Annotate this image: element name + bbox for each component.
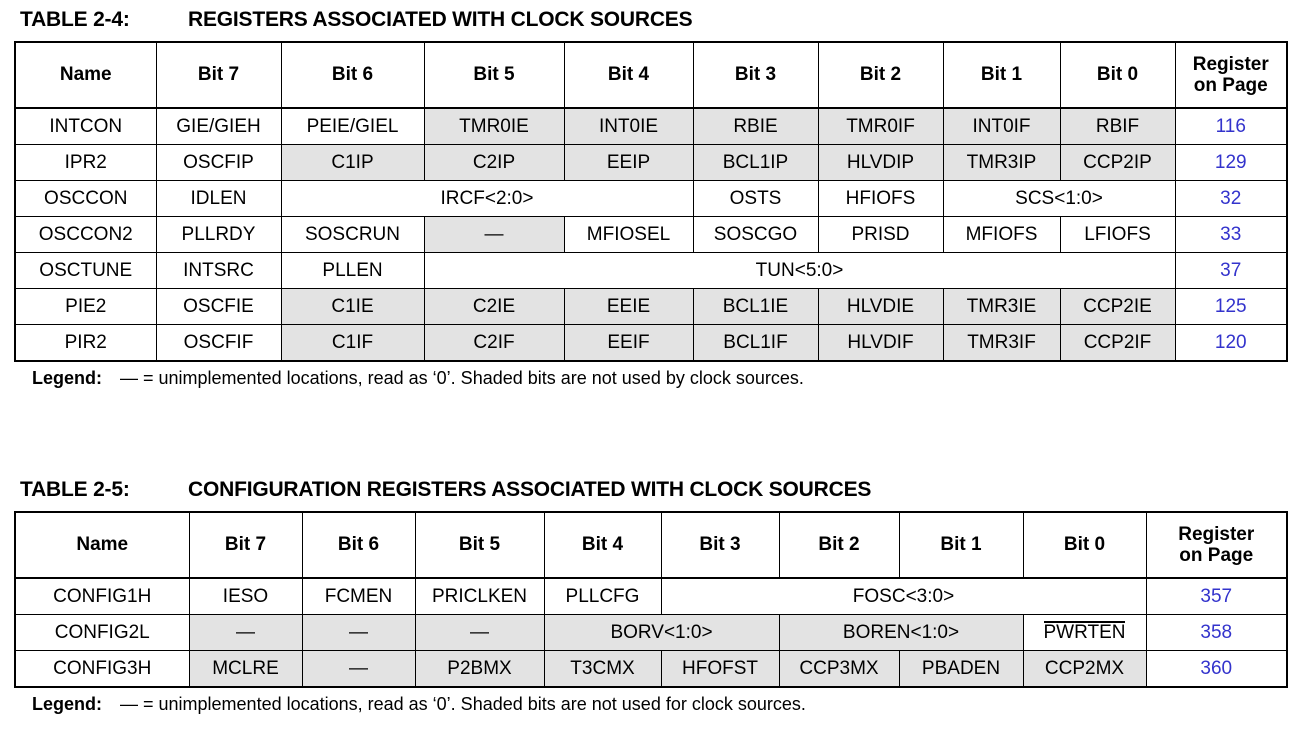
register-name-cell: CONFIG3H (15, 651, 189, 688)
legend-label: Legend: (32, 368, 120, 389)
table-row: IPR2OSCFIPC1IPC2IPEEIPBCL1IPHLVDIPTMR3IP… (15, 145, 1287, 181)
bit-field-cell: LFIOFS (1060, 217, 1175, 253)
bit-field-cell: BOREN<1:0> (779, 615, 1023, 651)
table-2-4-caption-title: REGISTERS ASSOCIATED WITH CLOCK SOURCES (188, 8, 1288, 32)
col-header-bit2: Bit 2 (779, 512, 899, 578)
table-2-4-header-row: Name Bit 7 Bit 6 Bit 5 Bit 4 Bit 3 Bit 2… (15, 42, 1287, 108)
register-page-link[interactable]: 358 (1146, 615, 1287, 651)
table-row: PIR2OSCFIFC1IFC2IFEEIFBCL1IFHLVDIFTMR3IF… (15, 325, 1287, 362)
col-header-bit6: Bit 6 (281, 42, 424, 108)
bit-field-cell: — (424, 217, 564, 253)
bit-field-cell: RBIF (1060, 108, 1175, 145)
table-row: INTCONGIE/GIEHPEIE/GIELTMR0IEINT0IERBIET… (15, 108, 1287, 145)
col-header-name: Name (15, 42, 156, 108)
bit-field-cell: MCLRE (189, 651, 302, 688)
register-page-link[interactable]: 357 (1146, 578, 1287, 615)
bit-field-cell: SCS<1:0> (943, 181, 1175, 217)
bit-field-cell: TMR3IF (943, 325, 1060, 362)
bit-field-cell: TMR3IE (943, 289, 1060, 325)
table-2-4-legend: Legend: — = unimplemented locations, rea… (32, 368, 1288, 389)
table-row: OSCTUNEINTSRCPLLENTUN<5:0>37 (15, 253, 1287, 289)
bit-field-cell: P2BMX (415, 651, 544, 688)
bit-field-cell: SOSCRUN (281, 217, 424, 253)
bit-field-cell: BORV<1:0> (544, 615, 779, 651)
bit-field-cell: TMR3IP (943, 145, 1060, 181)
col-header-bit3: Bit 3 (693, 42, 818, 108)
bit-field-cell: GIE/GIEH (156, 108, 281, 145)
col-header-name: Name (15, 512, 189, 578)
bit-field-cell: MFIOFS (943, 217, 1060, 253)
table-2-4-caption: TABLE 2-4: REGISTERS ASSOCIATED WITH CLO… (20, 8, 1288, 32)
col-header-bit7: Bit 7 (189, 512, 302, 578)
register-on-page-line2: on Page (1179, 545, 1253, 566)
table-row: CONFIG1HIESOFCMENPRICLKENPLLCFGFOSC<3:0>… (15, 578, 1287, 615)
col-header-register-on-page: Register on Page (1175, 42, 1287, 108)
bit-field-cell: — (302, 615, 415, 651)
bit-field-cell: HFOFST (661, 651, 779, 688)
register-page-link[interactable]: 120 (1175, 325, 1287, 362)
bit-field-cell: PLLRDY (156, 217, 281, 253)
register-name-cell: OSCTUNE (15, 253, 156, 289)
col-header-bit0: Bit 0 (1023, 512, 1146, 578)
register-page-link[interactable]: 116 (1175, 108, 1287, 145)
bit-field-cell: INT0IE (564, 108, 693, 145)
bit-field-cell: TMR0IF (818, 108, 943, 145)
register-on-page-line1: Register (1193, 54, 1269, 75)
bit-field-cell: — (415, 615, 544, 651)
bit-field-cell: C2IP (424, 145, 564, 181)
bit-field-cell: EEIE (564, 289, 693, 325)
bit-field-cell: C2IE (424, 289, 564, 325)
bit-field-cell: OSCFIF (156, 325, 281, 362)
table-2-5-block: TABLE 2-5: CONFIGURATION REGISTERS ASSOC… (14, 478, 1288, 715)
bit-field-cell: — (302, 651, 415, 688)
bit-field-cell: FCMEN (302, 578, 415, 615)
active-low-overline: PWRTEN (1044, 621, 1126, 643)
bit-field-cell: IDLEN (156, 181, 281, 217)
bit-field-cell: — (189, 615, 302, 651)
table-2-4-body: INTCONGIE/GIEHPEIE/GIELTMR0IEINT0IERBIET… (15, 108, 1287, 361)
bit-field-cell: PEIE/GIEL (281, 108, 424, 145)
bit-field-cell: CCP2IE (1060, 289, 1175, 325)
table-row: CONFIG2L———BORV<1:0>BOREN<1:0>PWRTEN358 (15, 615, 1287, 651)
bit-field-cell: HLVDIE (818, 289, 943, 325)
bit-field-cell: BCL1IP (693, 145, 818, 181)
col-header-bit5: Bit 5 (415, 512, 544, 578)
register-name-cell: INTCON (15, 108, 156, 145)
bit-field-cell: TUN<5:0> (424, 253, 1175, 289)
table-row: CONFIG3HMCLRE—P2BMXT3CMXHFOFSTCCP3MXPBAD… (15, 651, 1287, 688)
register-name-cell: OSCCON2 (15, 217, 156, 253)
register-page-link[interactable]: 33 (1175, 217, 1287, 253)
register-name-cell: CONFIG2L (15, 615, 189, 651)
col-header-bit0: Bit 0 (1060, 42, 1175, 108)
bit-field-cell: OSCFIP (156, 145, 281, 181)
bit-field-cell: FOSC<3:0> (661, 578, 1146, 615)
table-2-5-legend: Legend: — = unimplemented locations, rea… (32, 694, 1288, 715)
col-header-bit3: Bit 3 (661, 512, 779, 578)
table-row: PIE2OSCFIEC1IEC2IEEEIEBCL1IEHLVDIETMR3IE… (15, 289, 1287, 325)
register-page-link[interactable]: 125 (1175, 289, 1287, 325)
bit-field-cell: PRISD (818, 217, 943, 253)
datasheet-page: TABLE 2-4: REGISTERS ASSOCIATED WITH CLO… (0, 0, 1296, 756)
register-on-page-line1: Register (1178, 524, 1254, 545)
col-header-register-on-page: Register on Page (1146, 512, 1287, 578)
bit-field-cell: OSTS (693, 181, 818, 217)
col-header-bit6: Bit 6 (302, 512, 415, 578)
table-row: OSCCONIDLENIRCF<2:0>OSTSHFIOFSSCS<1:0>32 (15, 181, 1287, 217)
table-2-5-body: CONFIG1HIESOFCMENPRICLKENPLLCFGFOSC<3:0>… (15, 578, 1287, 687)
bit-field-cell: EEIP (564, 145, 693, 181)
bit-field-cell: BCL1IF (693, 325, 818, 362)
col-header-bit2: Bit 2 (818, 42, 943, 108)
register-name-cell: OSCCON (15, 181, 156, 217)
bit-field-cell: CCP3MX (779, 651, 899, 688)
bit-field-cell: PRICLKEN (415, 578, 544, 615)
register-page-link[interactable]: 32 (1175, 181, 1287, 217)
legend-text: — = unimplemented locations, read as ‘0’… (120, 694, 806, 715)
table-2-5-caption-title: CONFIGURATION REGISTERS ASSOCIATED WITH … (188, 478, 1288, 502)
table-2-5-caption: TABLE 2-5: CONFIGURATION REGISTERS ASSOC… (20, 478, 1288, 502)
bit-field-cell: C1IF (281, 325, 424, 362)
table-2-5-header-row: Name Bit 7 Bit 6 Bit 5 Bit 4 Bit 3 Bit 2… (15, 512, 1287, 578)
bit-field-cell: SOSCGO (693, 217, 818, 253)
bit-field-cell: OSCFIE (156, 289, 281, 325)
bit-field-cell: INTSRC (156, 253, 281, 289)
bit-field-cell: INT0IF (943, 108, 1060, 145)
bit-field-cell: HLVDIF (818, 325, 943, 362)
register-page-link[interactable]: 360 (1146, 651, 1287, 688)
bit-field-cell: PLLEN (281, 253, 424, 289)
bit-field-cell: HLVDIP (818, 145, 943, 181)
legend-text: — = unimplemented locations, read as ‘0’… (120, 368, 804, 389)
bit-field-cell: BCL1IE (693, 289, 818, 325)
bit-field-cell: EEIF (564, 325, 693, 362)
bit-field-cell: CCP2MX (1023, 651, 1146, 688)
table-2-4-caption-label: TABLE 2-4: (20, 8, 188, 32)
col-header-bit4: Bit 4 (544, 512, 661, 578)
table-2-5: Name Bit 7 Bit 6 Bit 5 Bit 4 Bit 3 Bit 2… (14, 511, 1288, 688)
register-name-cell: PIE2 (15, 289, 156, 325)
bit-field-cell: MFIOSEL (564, 217, 693, 253)
bit-field-cell: C2IF (424, 325, 564, 362)
col-header-bit1: Bit 1 (943, 42, 1060, 108)
bit-field-cell: C1IP (281, 145, 424, 181)
legend-label: Legend: (32, 694, 120, 715)
bit-field-cell: PBADEN (899, 651, 1023, 688)
table-row: OSCCON2PLLRDYSOSCRUN—MFIOSELSOSCGOPRISDM… (15, 217, 1287, 253)
table-2-4: Name Bit 7 Bit 6 Bit 5 Bit 4 Bit 3 Bit 2… (14, 41, 1288, 362)
table-2-4-block: TABLE 2-4: REGISTERS ASSOCIATED WITH CLO… (14, 8, 1288, 389)
bit-field-cell: CCP2IP (1060, 145, 1175, 181)
bit-field-cell: IESO (189, 578, 302, 615)
register-name-cell: IPR2 (15, 145, 156, 181)
bit-field-cell: HFIOFS (818, 181, 943, 217)
register-name-cell: PIR2 (15, 325, 156, 362)
col-header-bit4: Bit 4 (564, 42, 693, 108)
bit-field-cell: CCP2IF (1060, 325, 1175, 362)
col-header-bit1: Bit 1 (899, 512, 1023, 578)
table-2-5-caption-label: TABLE 2-5: (20, 478, 188, 502)
bit-field-cell: TMR0IE (424, 108, 564, 145)
col-header-bit7: Bit 7 (156, 42, 281, 108)
bit-field-cell: C1IE (281, 289, 424, 325)
col-header-bit5: Bit 5 (424, 42, 564, 108)
bit-field-cell: PLLCFG (544, 578, 661, 615)
register-page-link[interactable]: 129 (1175, 145, 1287, 181)
register-name-cell: CONFIG1H (15, 578, 189, 615)
register-page-link[interactable]: 37 (1175, 253, 1287, 289)
bit-field-cell: RBIE (693, 108, 818, 145)
bit-field-cell: PWRTEN (1023, 615, 1146, 651)
bit-field-cell: T3CMX (544, 651, 661, 688)
bit-field-cell: IRCF<2:0> (281, 181, 693, 217)
register-on-page-line2: on Page (1194, 75, 1268, 96)
